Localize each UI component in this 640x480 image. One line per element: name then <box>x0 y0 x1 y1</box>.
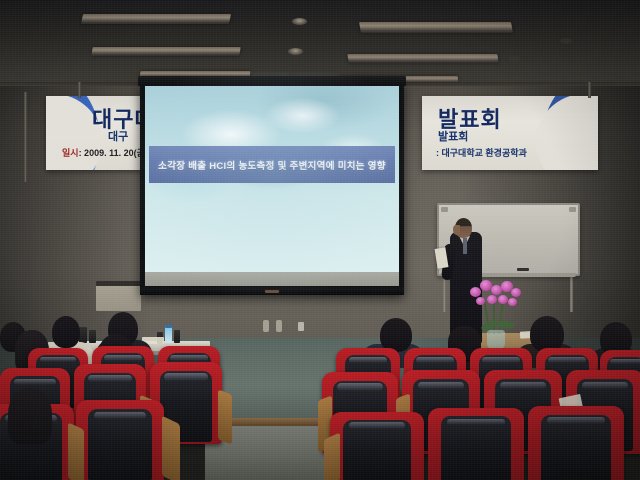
ceiling-light-fixture <box>359 22 513 33</box>
seat-cushion <box>343 420 411 480</box>
seat-highlight <box>547 417 605 424</box>
water-bottle[interactable] <box>165 327 172 343</box>
seat-highlight <box>88 375 131 382</box>
whiteboard-marker[interactable] <box>517 268 529 271</box>
seat-highlight <box>14 379 56 386</box>
seat[interactable] <box>528 406 624 480</box>
attendee-head <box>52 316 80 348</box>
seat-armrest <box>218 389 232 444</box>
slide-title-bar: 소각장 배출 HCl의 농도측정 및 주변지역에 미치는 영향 <box>149 146 395 183</box>
ceiling-light-fixture <box>347 54 498 63</box>
flower-vase <box>487 330 505 350</box>
thermos-bottle[interactable] <box>89 330 96 343</box>
banner-swoosh-icon <box>542 96 598 170</box>
ceiling-downlight <box>288 48 303 55</box>
attendee-head <box>530 316 564 352</box>
seat[interactable] <box>330 412 424 480</box>
seat[interactable] <box>76 400 164 480</box>
attendee-head <box>380 318 412 352</box>
seat-cushion <box>88 409 151 480</box>
banner-support-pole <box>24 92 27 182</box>
seat-highlight <box>500 382 547 390</box>
slide-background: 소각장 배출 HCl의 농도측정 및 주변지역에 미치는 영향 <box>145 86 399 272</box>
seat-highlight <box>418 382 465 390</box>
banner-right: 발표회 발표회 : 대구대학교 환경공학과 <box>422 96 598 170</box>
ceiling-vent <box>560 38 572 44</box>
banner-date-label: 일시 <box>62 148 79 158</box>
seat-highlight <box>349 422 405 428</box>
orchid-bloom <box>470 287 481 297</box>
ceiling-light-fixture <box>91 47 240 56</box>
wall-radiator <box>96 281 141 311</box>
seat-highlight <box>582 382 629 390</box>
seat-highlight <box>104 355 141 361</box>
ceiling-downlight <box>292 18 307 25</box>
whiteboard-corner-bracket <box>569 207 576 212</box>
seat-highlight <box>482 357 519 363</box>
flower-stem <box>493 300 495 334</box>
banner-left-subtitle: 대구 <box>108 128 128 144</box>
water-bottle-cap <box>165 325 172 328</box>
wall-pipe <box>276 320 282 332</box>
orchid-bloom <box>508 298 517 306</box>
seat-highlight <box>94 412 147 420</box>
banner-date-value: : 2009. 11. 20(금 <box>79 148 145 158</box>
seat-cushion <box>441 416 510 480</box>
seat-cushion <box>541 415 610 480</box>
seat-highlight <box>170 355 207 361</box>
ceiling-vent <box>508 56 520 62</box>
banner-right-subtitle: 발표회 <box>438 128 468 144</box>
seat-highlight <box>416 357 453 363</box>
orchid-bloom <box>487 295 497 304</box>
orchid-bloom <box>498 295 508 304</box>
seat-highlight <box>40 357 76 363</box>
screen-weight-bar <box>140 288 404 295</box>
thermos-bottle[interactable] <box>79 327 87 343</box>
seat-highlight <box>349 357 387 363</box>
drink-can[interactable] <box>174 330 180 343</box>
seat-highlight <box>164 373 207 380</box>
wall-pipe <box>263 320 269 332</box>
seat-highlight <box>337 383 383 390</box>
seat-armrest <box>68 422 84 480</box>
auditorium-photo: 대구대 대구 일시: 2009. 11. 20(금 발표회 발표회 : 대구대학… <box>0 0 640 480</box>
banner-left-date: 일시: 2009. 11. 20(금 <box>62 146 145 159</box>
whiteboard-corner-bracket <box>441 207 448 212</box>
seat-highlight <box>447 419 505 426</box>
banner-support-pole <box>588 82 591 98</box>
seat-highlight <box>548 357 585 363</box>
attendee-head <box>8 388 52 444</box>
projection-screen-case <box>138 76 406 86</box>
ceiling-light-fixture <box>81 14 231 24</box>
seat-armrest <box>162 416 180 480</box>
seat-armrest <box>324 432 340 480</box>
seat[interactable] <box>428 408 524 480</box>
screen-blank-strip <box>145 272 399 286</box>
orchid-bloom <box>511 288 521 297</box>
slide-title-text: 소각장 배출 HCl의 농도측정 및 주변지역에 미치는 영향 <box>158 158 386 172</box>
wall-outlet <box>298 322 304 331</box>
projection-screen: 소각장 배출 HCl의 농도측정 및 주변지역에 미치는 영향 <box>145 86 399 286</box>
presenter-tie <box>463 238 467 254</box>
banner-support-pole <box>78 82 81 98</box>
presenter-face <box>453 225 460 235</box>
banner-right-org: : 대구대학교 환경공학과 <box>436 146 527 159</box>
seat-highlight <box>610 359 640 365</box>
orchid-bloom <box>476 297 485 305</box>
